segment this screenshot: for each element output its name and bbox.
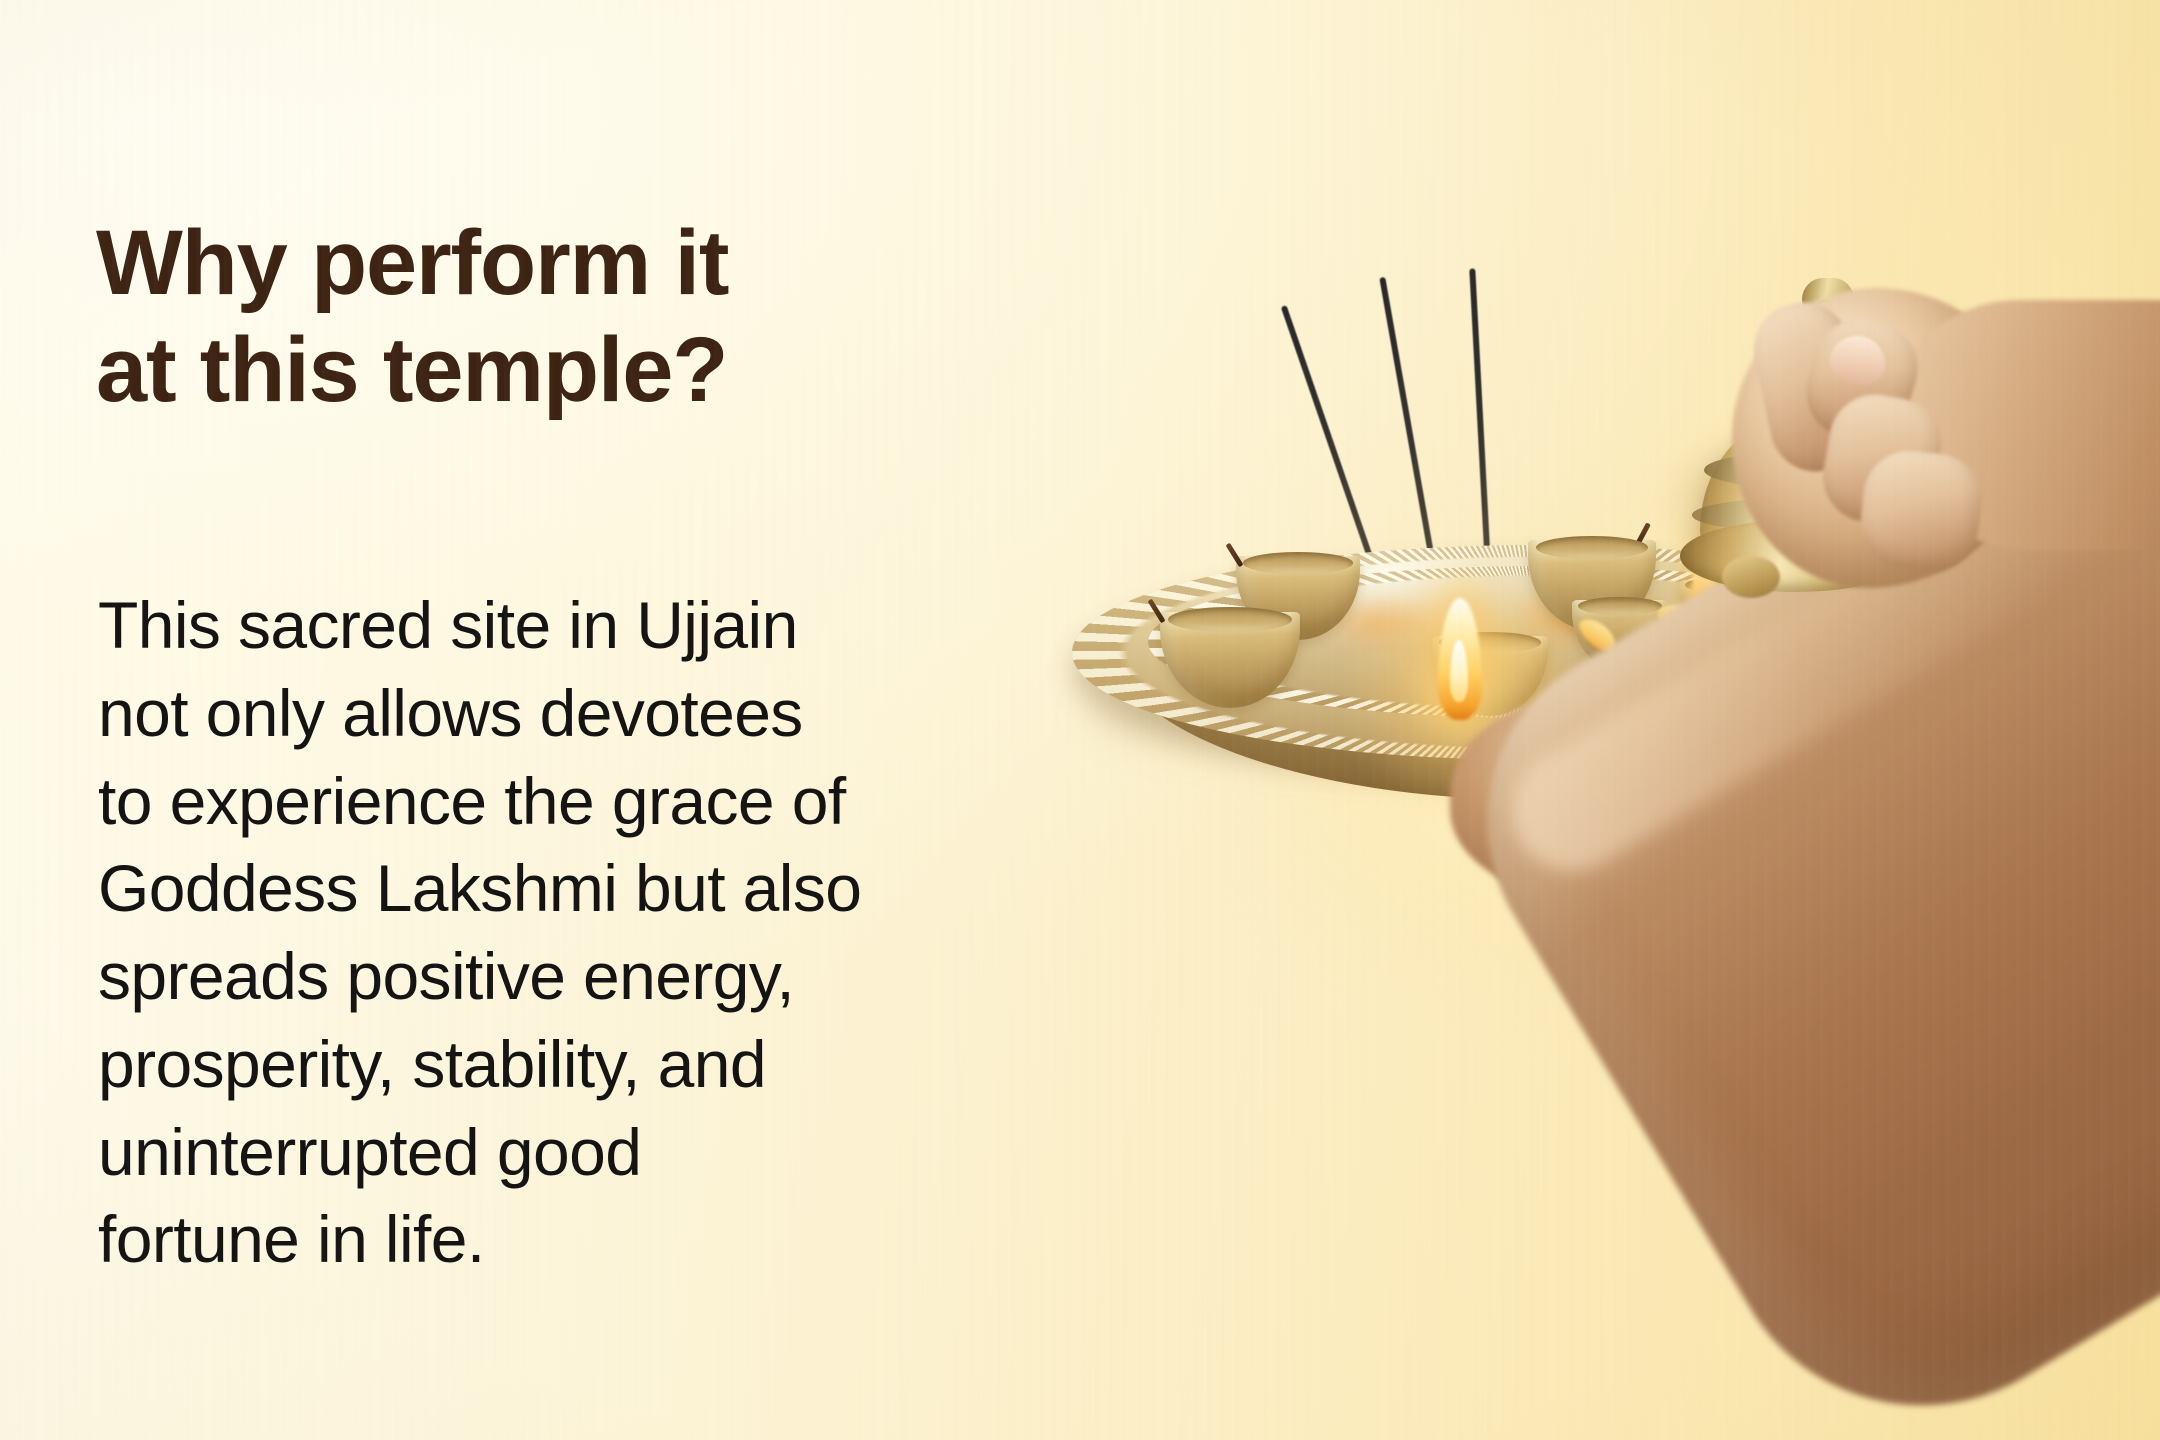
bell-clapper <box>1722 556 1780 598</box>
body-paragraph: This sacred site in Ujjain not only allo… <box>98 582 1088 1284</box>
ring-finger <box>1856 446 1986 576</box>
text-column: Why perform it at this temple? This sacr… <box>96 0 1096 1440</box>
puja-photo <box>1020 0 2160 1440</box>
slide-canvas: Why perform it at this temple? This sacr… <box>0 0 2160 1440</box>
page-title: Why perform it at this temple? <box>96 210 1046 425</box>
